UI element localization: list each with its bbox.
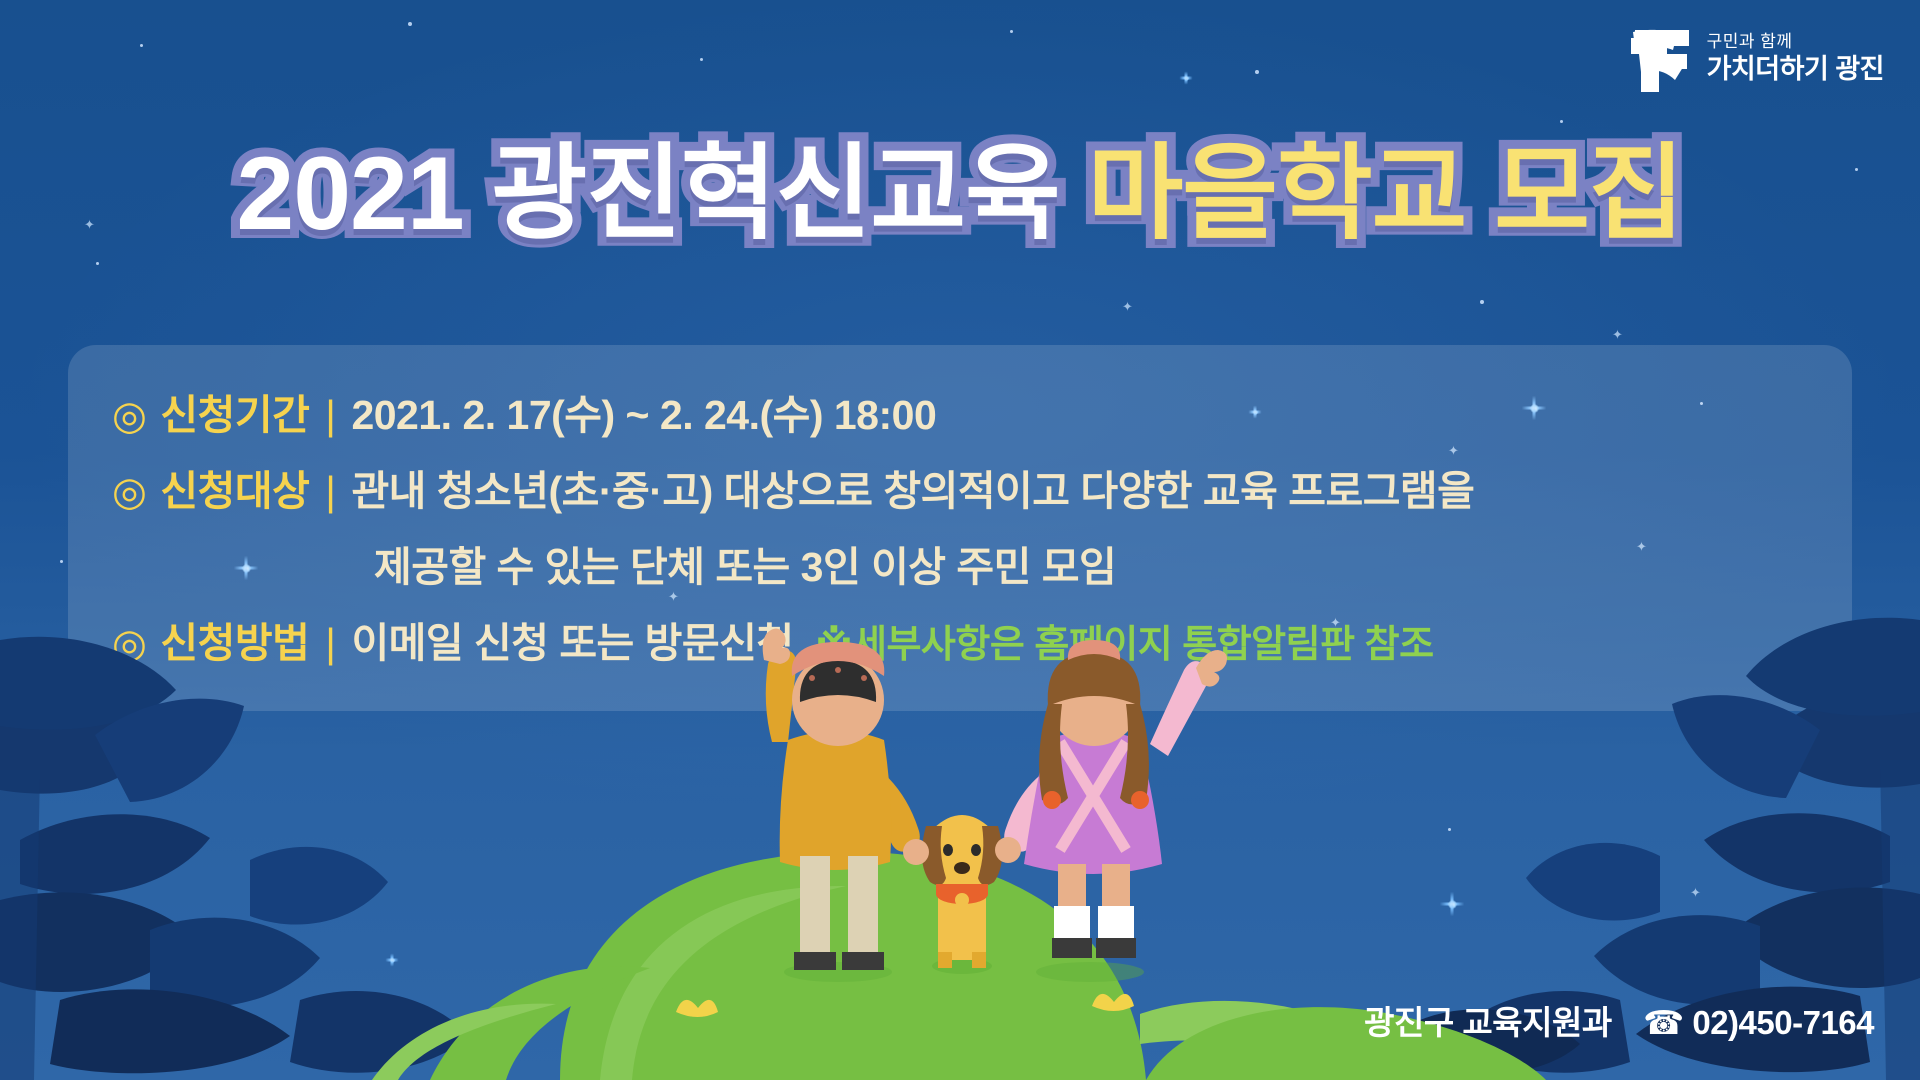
footer-contact: 광진구 교육지원과 ☎ 02)450-7164: [1364, 996, 1874, 1044]
poster-root: ✦ ✦ ✦ ✦ ✦ ✦ ✦ ✦ ✦ 구민과 함께 가치더하기 광진: [0, 0, 1920, 1080]
phone-icon: ☎: [1643, 1004, 1684, 1041]
foliage-left: [0, 637, 470, 1080]
scene-illustration: [0, 0, 1920, 1080]
footer-phone: 02)450-7164: [1692, 1004, 1874, 1041]
footer-department: 광진구 교육지원과: [1364, 1004, 1612, 1041]
